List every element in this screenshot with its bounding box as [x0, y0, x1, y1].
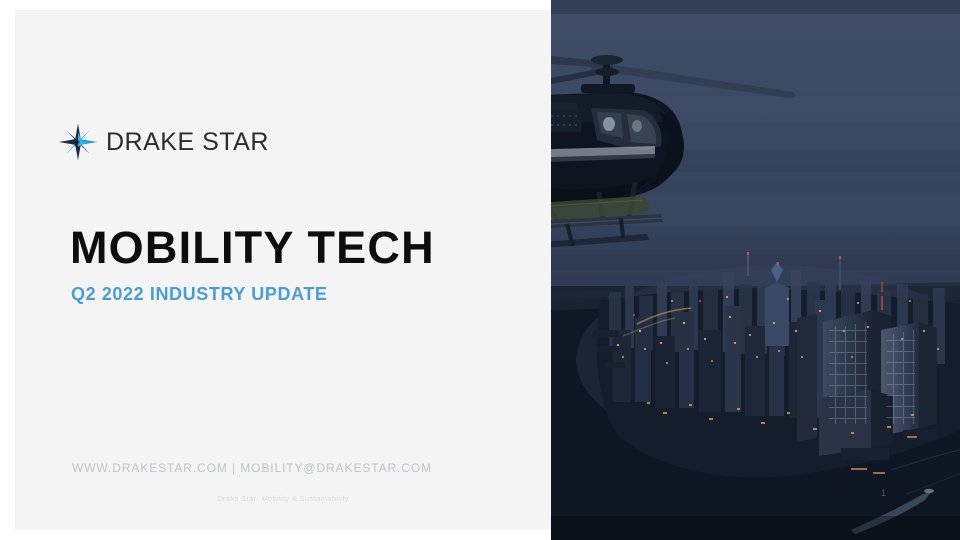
title-slide: DRAKE STAR MOBILITY TECH Q2 2022 INDUSTR… — [0, 0, 960, 540]
footer-contact-line[interactable]: WWW.DRAKESTAR.COM | MOBILITY@DRAKESTAR.C… — [72, 461, 432, 475]
drake-star-compass-star-icon — [58, 122, 98, 162]
brand-wordmark: DRAKE STAR — [106, 130, 269, 155]
helicopter-over-night-city-photo: 1 — [551, 0, 960, 540]
photo-artwork — [551, 0, 960, 540]
footer-caption: Drake Star: Mobility & Sustainability — [15, 494, 551, 503]
page-title: MOBILITY TECH — [70, 224, 435, 271]
page-number: 1 — [881, 489, 886, 498]
page-subtitle: Q2 2022 INDUSTRY UPDATE — [71, 285, 328, 305]
brand-logo[interactable]: DRAKE STAR — [58, 122, 269, 162]
